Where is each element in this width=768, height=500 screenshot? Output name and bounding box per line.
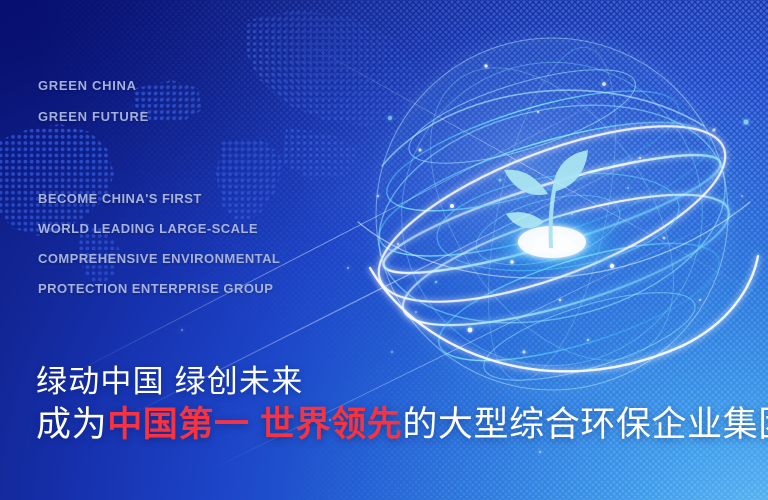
wireframe-globe [352,16,768,416]
tagline-block: GREEN CHINA GREEN FUTURE [38,70,149,132]
tagline-line-1: GREEN CHINA [38,70,149,101]
headline-block: 绿动中国 绿创未来 成为中国第一 世界领先的大型综合环保企业集团 [36,362,768,448]
headline-line-1: 绿动中国 绿创未来 [36,362,768,402]
mission-line-2: WORLD LEADING LARGE-SCALE [38,214,280,244]
tagline-line-2: GREEN FUTURE [38,101,149,132]
headline-suffix: 的大型综合环保企业集团 [402,405,768,444]
headline-prefix: 成为 [36,405,107,444]
mission-statement-block: BECOME CHINA'S FIRST WORLD LEADING LARGE… [38,184,280,304]
headline-line-2: 成为中国第一 世界领先的大型综合环保企业集团 [36,402,768,448]
mission-line-4: PROTECTION ENTERPRISE GROUP [38,274,280,304]
mission-line-3: COMPREHENSIVE ENVIRONMENTAL [38,244,280,274]
headline-highlight: 中国第一 世界领先 [107,405,402,444]
mission-line-1: BECOME CHINA'S FIRST [38,184,280,214]
promo-banner: GREEN CHINA GREEN FUTURE BECOME CHINA'S … [0,0,768,500]
